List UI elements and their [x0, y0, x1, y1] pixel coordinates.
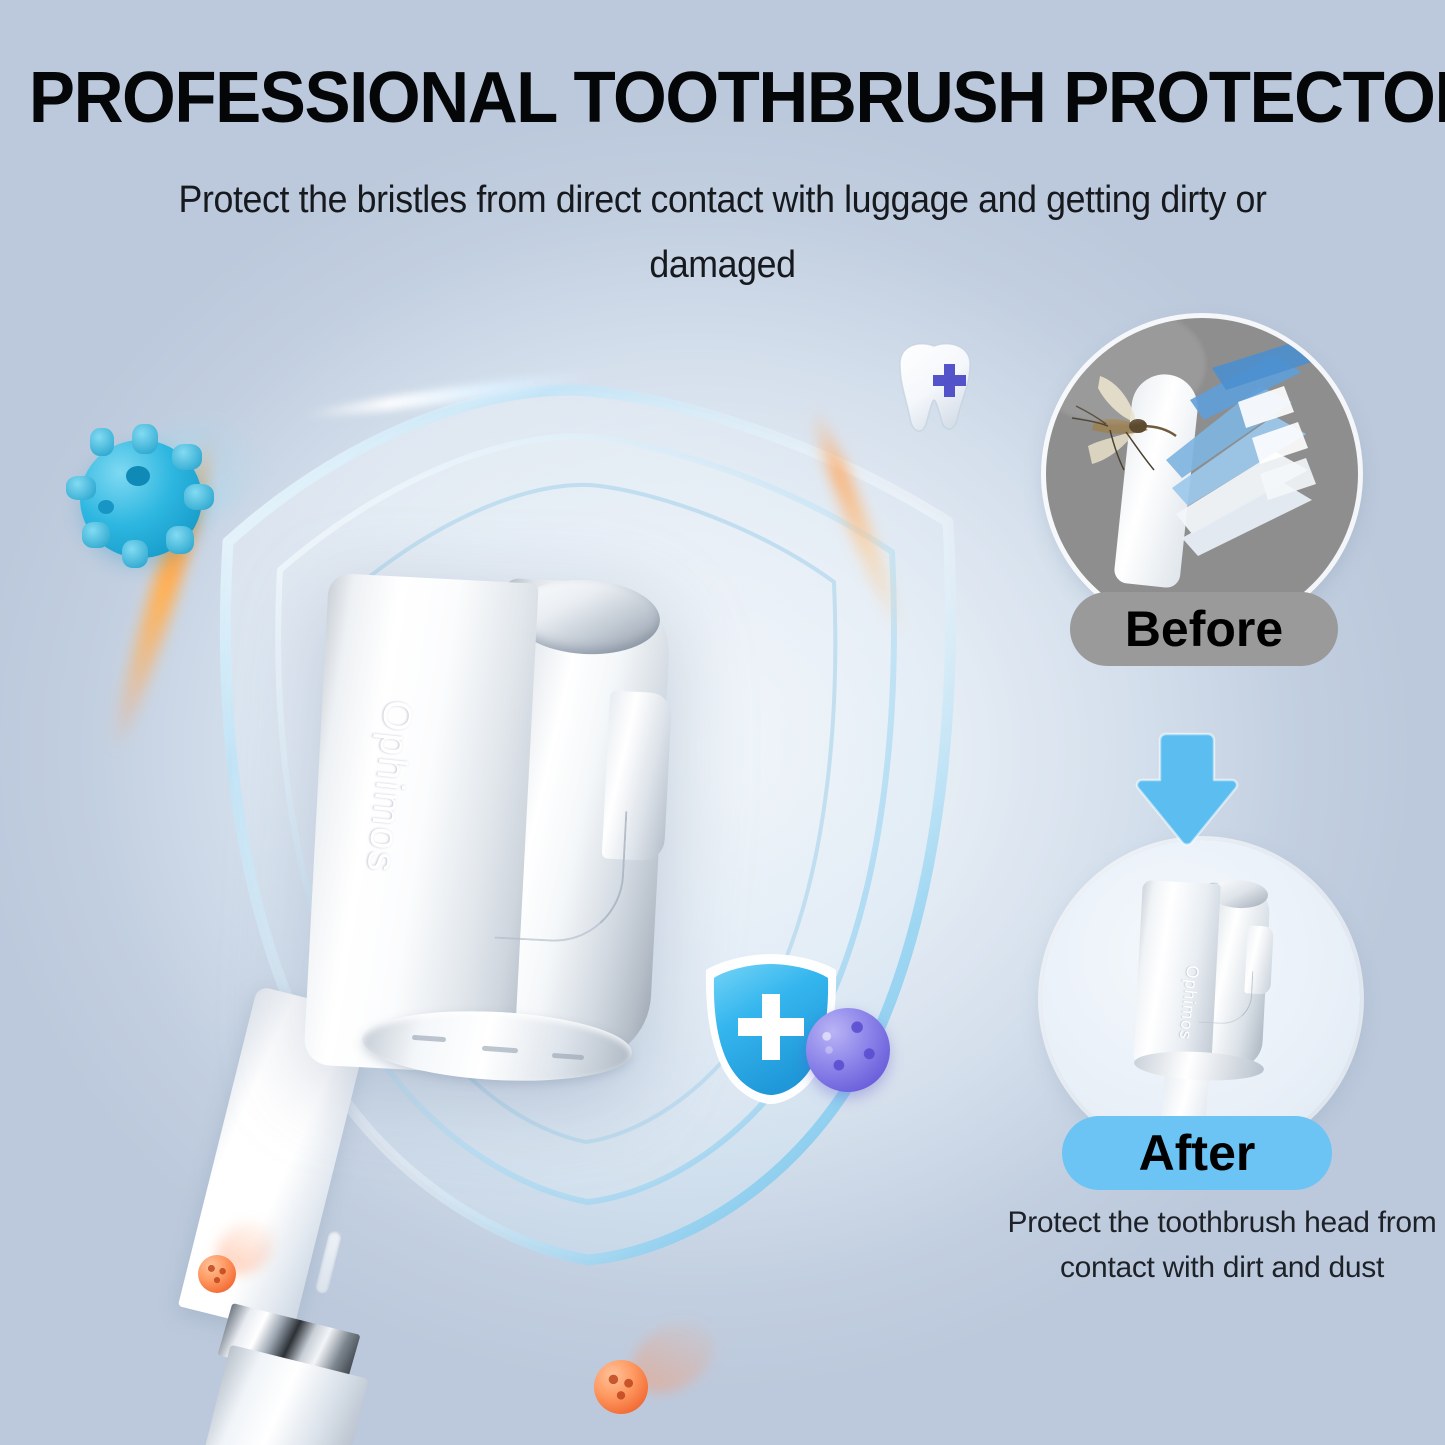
virus-spike	[82, 522, 110, 548]
after-caption: Protect the toothbrush head from contact…	[1000, 1200, 1444, 1290]
virus-spike	[184, 484, 214, 510]
virus-icon-orange-large	[594, 1360, 648, 1414]
page-title: PROFESSIONAL TOOTHBRUSH PROTECTOR	[29, 62, 1416, 134]
germ-icon-purple	[806, 1008, 890, 1092]
toothbrush-protector-product: Ophimos	[316, 560, 756, 1090]
virus-spike	[90, 428, 114, 456]
virus-spike	[166, 526, 194, 554]
virus-spike	[172, 444, 202, 470]
virus-pore	[126, 466, 150, 486]
brand-logo-text: Ophimos	[356, 680, 423, 894]
before-badge: Before	[1070, 592, 1338, 666]
after-badge: After	[1062, 1116, 1332, 1190]
virus-spike	[132, 424, 158, 454]
virus-icon-blue	[80, 440, 202, 558]
page-subtitle: Protect the bristles from direct contact…	[175, 168, 1270, 299]
before-after-panel: Before Ophimos After Protect the toothbr…	[1006, 310, 1436, 1310]
after-photo-circle: Ophimos	[1042, 840, 1360, 1158]
toothbrush-slot	[314, 1229, 342, 1294]
product-marketing-image: PROFESSIONAL TOOTHBRUSH PROTECTOR Protec…	[0, 0, 1445, 1445]
arrow-down-icon	[1132, 728, 1242, 848]
virus-spike	[66, 476, 96, 500]
tooth-icon	[888, 338, 980, 440]
virus-pore	[98, 500, 114, 514]
before-photo-circle	[1046, 318, 1358, 630]
virus-spike	[122, 540, 148, 568]
virus-icon-orange-small	[198, 1255, 236, 1293]
